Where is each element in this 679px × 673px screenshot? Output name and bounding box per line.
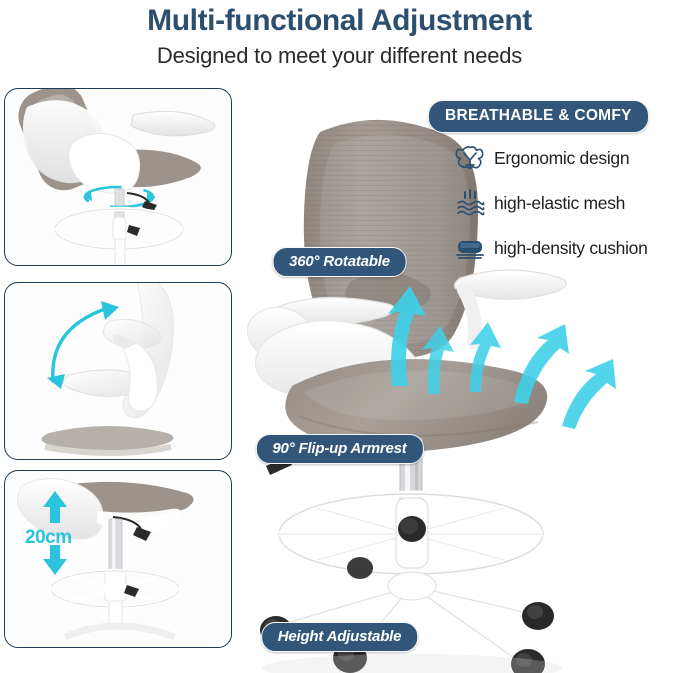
feature-panel-armrest: [4, 282, 232, 460]
page-title: Multi-functional Adjustment: [0, 0, 679, 38]
chair-height-illustration: [5, 471, 231, 647]
feature-row-ergonomic: Ergonomic design: [450, 136, 679, 180]
panel-label-rotatable: 360° Rotatable: [272, 247, 407, 277]
chair-armrest-illustration: [5, 283, 231, 459]
panel-label-armrest: 90° Flip-up Armrest: [255, 434, 423, 464]
feature-row-cushion: high-density cushion: [450, 226, 679, 270]
comfy-feature-list: Ergonomic design high-elastic mesh: [450, 136, 679, 271]
panel-label-height: Height Adjustable: [261, 622, 419, 652]
breathable-comfy-badge: BREATHABLE & COMFY: [428, 100, 649, 133]
feature-label-mesh: high-elastic mesh: [490, 193, 625, 214]
feature-label-ergonomic: Ergonomic design: [490, 148, 629, 169]
cushion-icon: [450, 231, 490, 265]
feature-panel-height: 20cm: [4, 470, 232, 648]
page-subtitle: Designed to meet your different needs: [0, 38, 679, 70]
feature-panel-rotatable: [4, 88, 232, 266]
feature-label-cushion: high-density cushion: [490, 238, 648, 259]
header: Multi-functional Adjustment Designed to …: [0, 0, 679, 70]
height-measurement-label: 20cm: [25, 527, 72, 549]
feature-row-mesh: high-elastic mesh: [450, 181, 679, 225]
footrest-ring: [279, 494, 543, 574]
chair-rotate-illustration: [5, 89, 231, 265]
armrest-right: [454, 270, 566, 342]
airflow-waves-icon: [450, 186, 490, 220]
infographic-page: Multi-functional Adjustment Designed to …: [0, 0, 679, 673]
cotton-boll-icon: [450, 141, 490, 175]
